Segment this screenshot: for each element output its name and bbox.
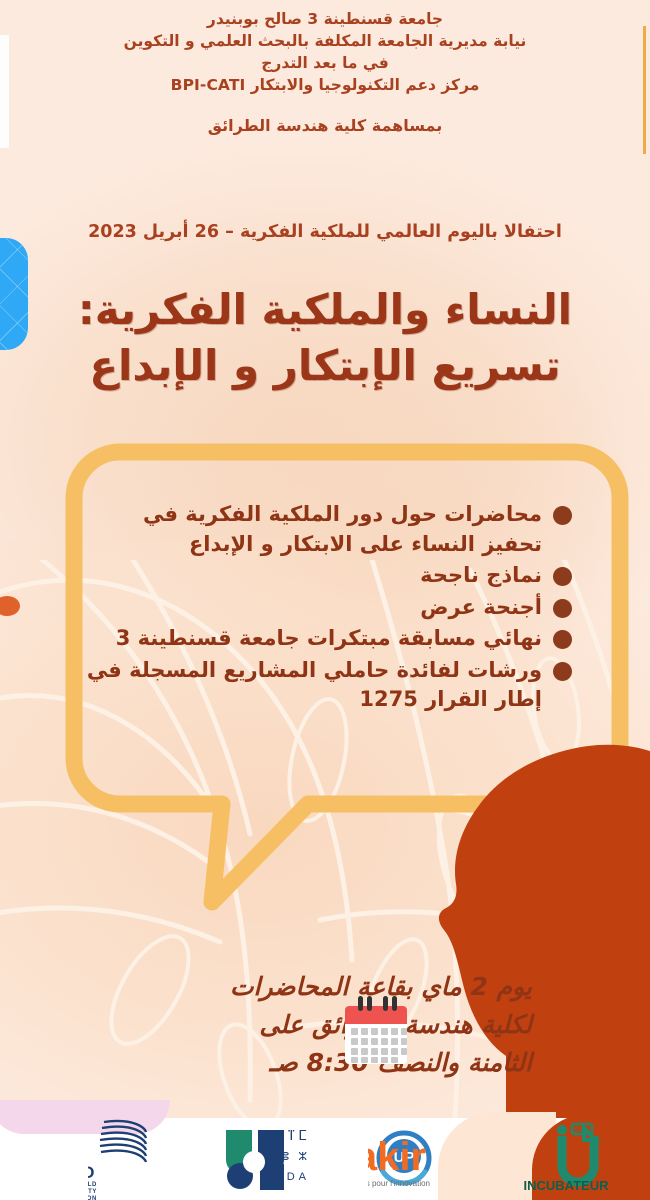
incubateur-sub: UC3 — [572, 1128, 585, 1134]
wipo-logo[interactable]: WIPO WORLD INTELLECTUAL PROPERTY ORGANIZ… — [88, 1118, 218, 1200]
onda-mark: ⴷⵓⴶⵎ ⵄ ⵓ ⵣ ONDA — [218, 1118, 368, 1200]
calendar-icon — [341, 994, 411, 1068]
bullet-dot-icon — [553, 567, 572, 586]
list-item-label: ورشات لفائدة حاملي المشاريع المسجلة في إ… — [76, 656, 542, 715]
list-item: ورشات لفائدة حاملي المشاريع المسجلة في إ… — [76, 656, 572, 715]
bullet-dot-icon — [553, 599, 572, 618]
org-line-1: جامعة قسنطينة 3 صالح بوبنيدر — [0, 8, 650, 30]
wipo-sub-3: ORGANIZATION — [88, 1196, 97, 1200]
bullet-dot-icon — [553, 506, 572, 525]
list-item-label: نماذج ناجحة — [76, 561, 542, 591]
institution-header: جامعة قسنطينة 3 صالح بوبنيدر نيابة مديري… — [0, 8, 650, 137]
bullet-dot-icon — [553, 630, 572, 649]
uptakir-logo[interactable]: UP takir Tous pour l'innovation — [368, 1118, 538, 1200]
title-line-2: تسريع الإبتكار و الإبداع — [0, 338, 650, 394]
partner-logos: UC3 INCUBATEUR UP takir Tous pour l'inno… — [0, 1118, 650, 1200]
incubateur-logo[interactable]: UC3 INCUBATEUR — [522, 1118, 650, 1200]
list-item: نماذج ناجحة — [76, 561, 572, 591]
footer-logo-strip: UC3 INCUBATEUR UP takir Tous pour l'inno… — [0, 1118, 650, 1200]
list-item: محاضرات حول دور الملكية الفكرية في تحفيز… — [76, 500, 572, 559]
wipo-wordmark: WIPO — [88, 1163, 96, 1182]
org-line-4: مركز دعم التكنولوجيا والابتكار BPI-CATI — [0, 74, 650, 96]
incubateur-mark: UC3 INCUBATEUR — [522, 1118, 650, 1200]
wipo-sub-1: WORLD — [88, 1182, 97, 1188]
event-detail-line-1: يوم 2 ماي بقاعة المحاضرات — [0, 968, 532, 1006]
contribution-line: بمساهمة كلية هندسة الطرائق — [0, 115, 650, 137]
wipo-sub-2: INTELLECTUAL PROPERTY — [88, 1189, 97, 1195]
org-line-2: نيابة مديرية الجامعة المكلفة بالبحث العل… — [0, 30, 650, 52]
agenda-list: محاضرات حول دور الملكية الفكرية في تحفيز… — [76, 500, 572, 717]
event-detail-line-3: الثامنة والنصف 8:30 صـ — [0, 1044, 532, 1082]
list-item-label: أجنحة عرض — [76, 593, 542, 623]
event-detail-line-2: لكلية هندسة الطرائق على — [0, 1006, 532, 1044]
onda-script: ⴷⵓⴶⵎ — [263, 1127, 310, 1143]
list-item-label: محاضرات حول دور الملكية الفكرية في تحفيز… — [76, 500, 542, 559]
onda-script-2: ⵄ ⵓ ⵣ — [265, 1151, 310, 1163]
occasion-line: احتفالا باليوم العالمي للملكية الفكرية –… — [0, 222, 650, 242]
poster-canvas: جامعة قسنطينة 3 صالح بوبنيدر نيابة مديري… — [0, 0, 650, 1200]
title-line-1: النساء والملكية الفكرية: — [0, 282, 650, 338]
uptakir-mark: UP takir Tous pour l'innovation — [368, 1118, 538, 1200]
list-item: نهائي مسابقة مبتكرات جامعة قسنطينة 3 — [76, 624, 572, 654]
event-details: يوم 2 ماي بقاعة المحاضرات لكلية هندسة ال… — [0, 968, 532, 1082]
wipo-mark: WIPO WORLD INTELLECTUAL PROPERTY ORGANIZ… — [88, 1118, 218, 1200]
list-item: أجنحة عرض — [76, 593, 572, 623]
uptakir-wordmark: takir — [368, 1135, 426, 1179]
list-item-label: نهائي مسابقة مبتكرات جامعة قسنطينة 3 — [76, 624, 542, 654]
onda-wordmark: ONDA — [262, 1171, 310, 1183]
onda-logo[interactable]: ⴷⵓⴶⵎ ⵄ ⵓ ⵣ ONDA — [218, 1118, 368, 1200]
page-title: النساء والملكية الفكرية: تسريع الإبتكار … — [0, 282, 650, 394]
bullet-dot-icon — [553, 662, 572, 681]
org-line-3: في ما بعد التدرج — [0, 52, 650, 74]
uptakir-tagline: Tous pour l'innovation — [368, 1179, 430, 1188]
